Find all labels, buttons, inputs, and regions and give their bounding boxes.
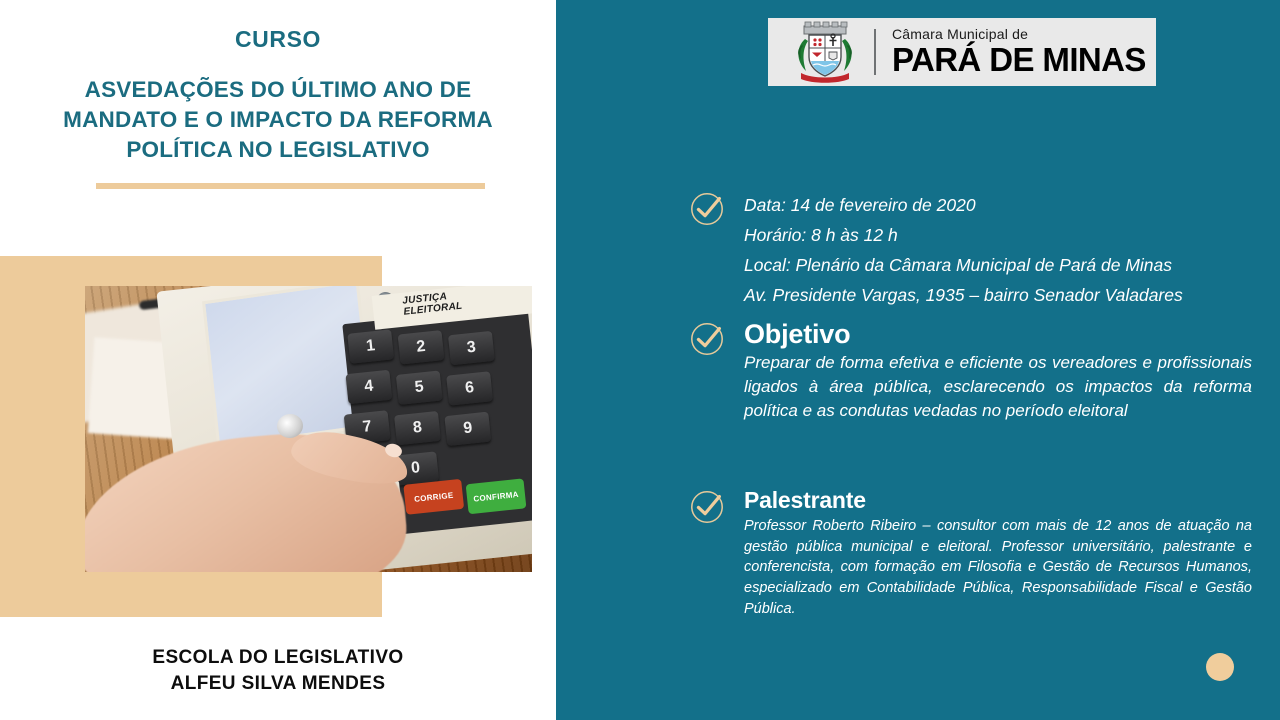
objective-title: Objetivo: [744, 320, 1252, 349]
speaker-block: Palestrante Professor Roberto Ribeiro – …: [744, 488, 1252, 620]
check-circle-icon: [688, 488, 726, 526]
objective-block: Objetivo Preparar de forma efetiva e efi…: [744, 320, 1252, 424]
key-6: 6: [446, 371, 493, 405]
footer-organization: ESCOLA DO LEGISLATIVO ALFEU SILVA MENDES: [0, 645, 556, 696]
speaker-title: Palestrante: [744, 488, 1252, 513]
coat-of-arms-icon: [792, 21, 858, 83]
kicker-label: CURSO: [0, 26, 556, 53]
right-panel: Câmara Municipal de PARÁ DE MINAS Data: …: [556, 0, 1280, 720]
key-1: 1: [347, 329, 394, 363]
button-confirma: CONFIRMA: [466, 478, 527, 514]
event-date: Data: 14 de fevereiro de 2020: [744, 190, 1252, 220]
logo-divider: [874, 29, 876, 75]
key-4: 4: [345, 370, 392, 404]
key-2: 2: [398, 330, 445, 364]
footer-line-1: ESCOLA DO LEGISLATIVO: [0, 645, 556, 671]
left-panel: CURSO ASVEDAÇÕES DO ÚLTIMO ANO DE MANDAT…: [0, 0, 556, 720]
button-corrige: CORRIGE: [403, 479, 464, 515]
voting-machine-photo: JUSTIÇA ELEITORAL 1 2 3 4 5 6 7 8 9 0 BR…: [85, 286, 532, 572]
accent-dot: [1206, 653, 1234, 681]
photo-inner: JUSTIÇA ELEITORAL 1 2 3 4 5 6 7 8 9 0 BR…: [85, 286, 532, 572]
logo-subtitle: Câmara Municipal de: [892, 27, 1156, 42]
speaker-text: Professor Roberto Ribeiro – consultor co…: [744, 516, 1252, 620]
page-title: ASVEDAÇÕES DO ÚLTIMO ANO DE MANDATO E O …: [28, 75, 528, 165]
logo-text-block: Câmara Municipal de PARÁ DE MINAS: [892, 27, 1156, 77]
key-3: 3: [448, 331, 495, 365]
key-5: 5: [396, 370, 443, 404]
slide-root: CURSO ASVEDAÇÕES DO ÚLTIMO ANO DE MANDAT…: [0, 0, 1280, 720]
title-divider: [96, 183, 485, 189]
event-place: Local: Plenário da Câmara Municipal de P…: [744, 250, 1252, 280]
objective-text: Preparar de forma efetiva e eficiente os…: [744, 351, 1252, 423]
check-circle-icon: [688, 190, 726, 228]
logo-city-name: PARÁ DE MINAS: [892, 43, 1156, 77]
event-address: Av. Presidente Vargas, 1935 – bairro Sen…: [744, 280, 1252, 310]
institution-logo: Câmara Municipal de PARÁ DE MINAS: [768, 18, 1156, 86]
key-8: 8: [394, 411, 441, 445]
footer-line-2: ALFEU SILVA MENDES: [0, 671, 556, 697]
key-9: 9: [444, 412, 491, 446]
event-info-lines: Data: 14 de fevereiro de 2020 Horário: 8…: [744, 190, 1252, 310]
event-time: Horário: 8 h às 12 h: [744, 220, 1252, 250]
check-circle-icon: [688, 320, 726, 358]
